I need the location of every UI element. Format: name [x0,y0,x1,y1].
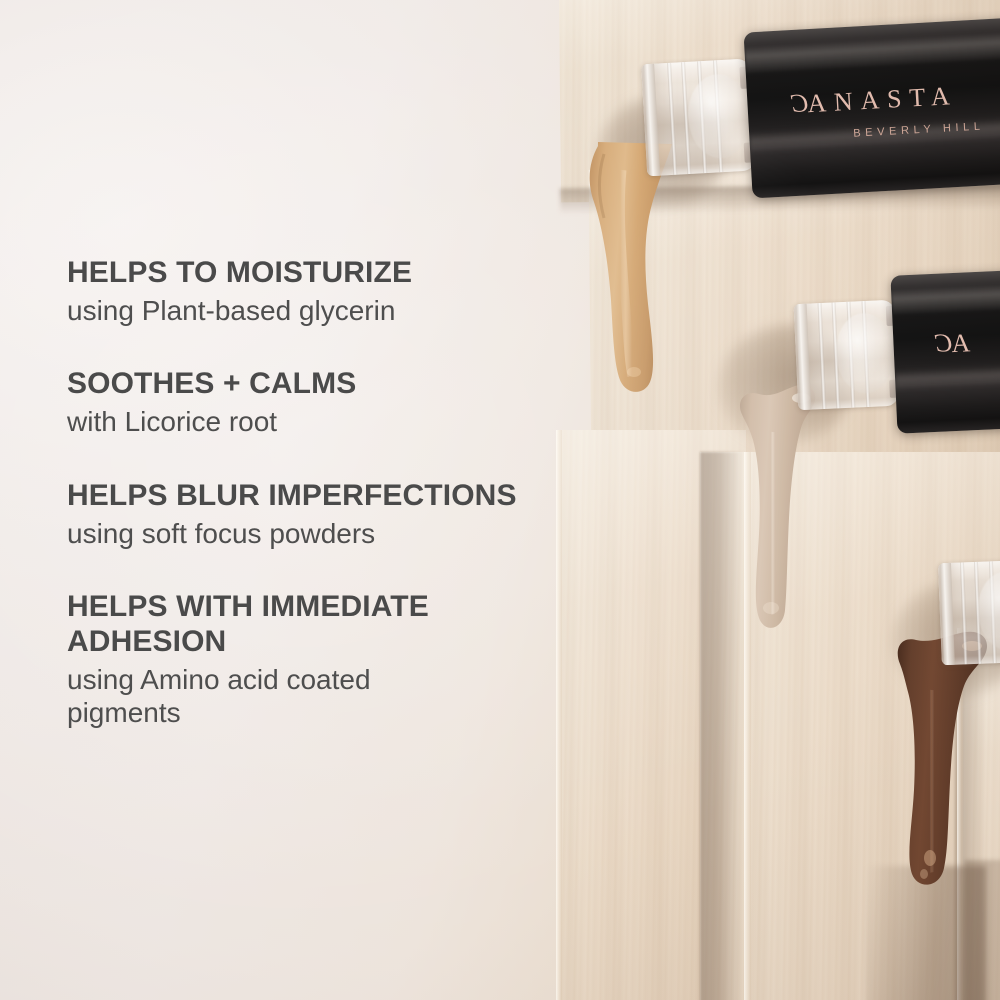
product-benefits-image: CANASTA BEVERLY HILL CA [0,0,1000,1000]
benefit-detail: with Licorice root [67,405,607,439]
benefit-headline: HELPS BLUR IMPERFECTIONS [67,479,607,514]
benefit-detail: using Plant-based glycerin [67,294,607,328]
benefit-detail: using soft focus powders [67,517,607,551]
benefit-item-4: HELPS WITH IMMEDIATE ADHESION using Amin… [67,590,607,730]
benefit-headline: HELPS WITH IMMEDIATE ADHESION [67,590,507,660]
benefit-headline: SOOTHES + CALMS [67,367,607,402]
benefit-item-2: SOOTHES + CALMS with Licorice root [67,367,607,438]
benefits-list: HELPS TO MOISTURIZE using Plant-based gl… [67,256,607,730]
benefit-item-1: HELPS TO MOISTURIZE using Plant-based gl… [67,256,607,327]
benefit-headline: HELPS TO MOISTURIZE [67,256,607,291]
benefit-item-3: HELPS BLUR IMPERFECTIONS using soft focu… [67,479,607,550]
benefit-detail: using Amino acid coated pigments [67,663,467,730]
